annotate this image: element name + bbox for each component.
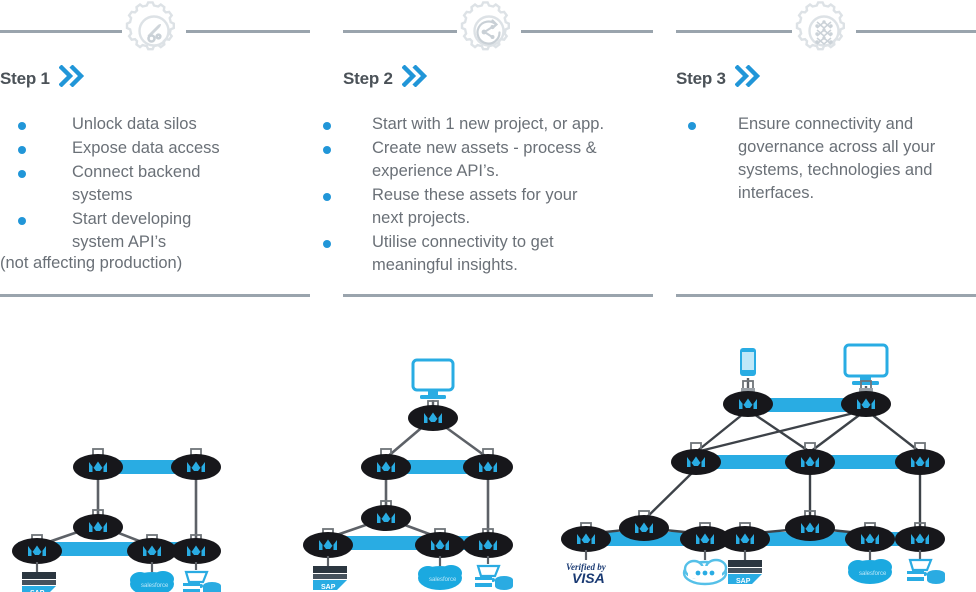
bullet-text: Reuse these assets for your next project… xyxy=(372,184,612,230)
divider-top-left-b xyxy=(186,30,310,33)
salesforce-cloud-logo: salesforce xyxy=(848,559,892,584)
step-3-heading: Step 3 xyxy=(676,65,761,92)
step-1-label: Step 1 xyxy=(0,69,50,89)
bullet-text: Unlock data silos xyxy=(72,113,197,136)
bullet-dot-icon xyxy=(323,146,331,154)
bullet-dot-icon xyxy=(18,146,26,154)
svg-text:salesforce: salesforce xyxy=(429,577,457,583)
bullet-dot-icon xyxy=(18,170,26,178)
desktop-monitor-icon xyxy=(413,360,453,399)
verified-by-visa-logo: Verified by VISA xyxy=(566,562,607,586)
bullet-text: Create new assets - process & experience… xyxy=(372,137,624,183)
list-item: Expose data access xyxy=(18,137,310,160)
svg-text:VISA: VISA xyxy=(572,570,605,586)
bullet-text: Start developing system API’s xyxy=(72,208,242,254)
divider-top-left-a xyxy=(0,30,122,33)
divider-top-mid-a xyxy=(343,30,457,33)
divider-top-right-b xyxy=(856,30,976,33)
svg-text:salesforce: salesforce xyxy=(859,571,887,577)
salesforce-cloud-logo: salesforce xyxy=(130,571,174,592)
step-3-label: Step 3 xyxy=(676,69,726,89)
divider-top-mid-b xyxy=(521,30,653,33)
svg-text:SAP: SAP xyxy=(321,584,336,591)
bullet-dot-icon xyxy=(323,122,331,130)
step-2-label: Step 2 xyxy=(343,69,393,89)
bullet-text: Ensure connectivity and governance acros… xyxy=(738,113,942,205)
list-item: Connect backend systems xyxy=(18,161,310,207)
double-chevron-right-icon xyxy=(59,65,85,92)
list-item: Utilise connectivity to get meaningful i… xyxy=(323,231,653,277)
api-led-connectivity-step-3: Verified by VISA SAP xyxy=(560,340,976,592)
reuse-share-gear-icon xyxy=(457,0,521,62)
divider-top-right-a xyxy=(676,30,792,33)
list-item: Unlock data silos xyxy=(18,113,310,136)
list-item: Reuse these assets for your next project… xyxy=(323,184,653,230)
svg-text:SAP: SAP xyxy=(736,578,751,585)
sap-logo: SAP xyxy=(313,566,347,591)
list-item: Start developing system API’s xyxy=(18,208,310,254)
chat-cloud-icon xyxy=(684,560,726,584)
mobile-phone-icon xyxy=(740,348,756,376)
double-chevron-right-icon xyxy=(735,65,761,92)
step-2-bullet-list: Start with 1 new project, or app. Create… xyxy=(323,113,653,278)
bullet-dot-icon xyxy=(18,217,26,225)
ecommerce-cart-card-database-logo xyxy=(475,566,513,590)
sap-logo: SAP xyxy=(728,560,762,585)
double-chevron-right-icon xyxy=(402,65,428,92)
divider-bottom-left xyxy=(0,294,310,297)
divider-bottom-right xyxy=(676,294,976,297)
list-item: Ensure connectivity and governance acros… xyxy=(688,113,976,205)
bullet-dot-icon xyxy=(323,240,331,248)
step-2-heading: Step 2 xyxy=(343,65,428,92)
bullet-text: Expose data access xyxy=(72,137,220,160)
salesforce-cloud-logo: salesforce xyxy=(418,565,462,590)
divider-bottom-mid xyxy=(343,294,653,297)
rocket-gear-icon xyxy=(122,0,186,62)
api-led-connectivity-step-1: SAP salesforce xyxy=(0,420,280,592)
list-item: Start with 1 new project, or app. xyxy=(323,113,653,136)
list-item: Create new assets - process & experience… xyxy=(323,137,653,183)
step-1-note: (not affecting production) xyxy=(0,252,182,275)
infographic-root: Step 1 Unlock data silos Expose data acc… xyxy=(0,0,976,592)
bullet-text: Utilise connectivity to get meaningful i… xyxy=(372,231,602,277)
step-1-bullet-list: Unlock data silos Expose data access Con… xyxy=(18,113,310,255)
svg-text:salesforce: salesforce xyxy=(141,583,169,589)
bullet-text: Start with 1 new project, or app. xyxy=(372,113,604,136)
step-3-bullet-list: Ensure connectivity and governance acros… xyxy=(688,113,976,206)
bullet-dot-icon xyxy=(18,122,26,130)
bullet-text: Connect backend systems xyxy=(72,161,242,207)
api-led-connectivity-step-2: SAP salesforce xyxy=(300,350,590,592)
bullet-dot-icon xyxy=(688,122,696,130)
bullet-dot-icon xyxy=(323,193,331,201)
desktop-monitor-icon xyxy=(845,345,887,385)
sap-logo: SAP xyxy=(22,572,56,592)
ecommerce-cart-card-database-logo xyxy=(907,560,945,584)
network-mesh-gear-icon xyxy=(792,0,856,62)
step-1-heading: Step 1 xyxy=(0,65,85,92)
ecommerce-cart-card-database-logo xyxy=(183,572,221,592)
